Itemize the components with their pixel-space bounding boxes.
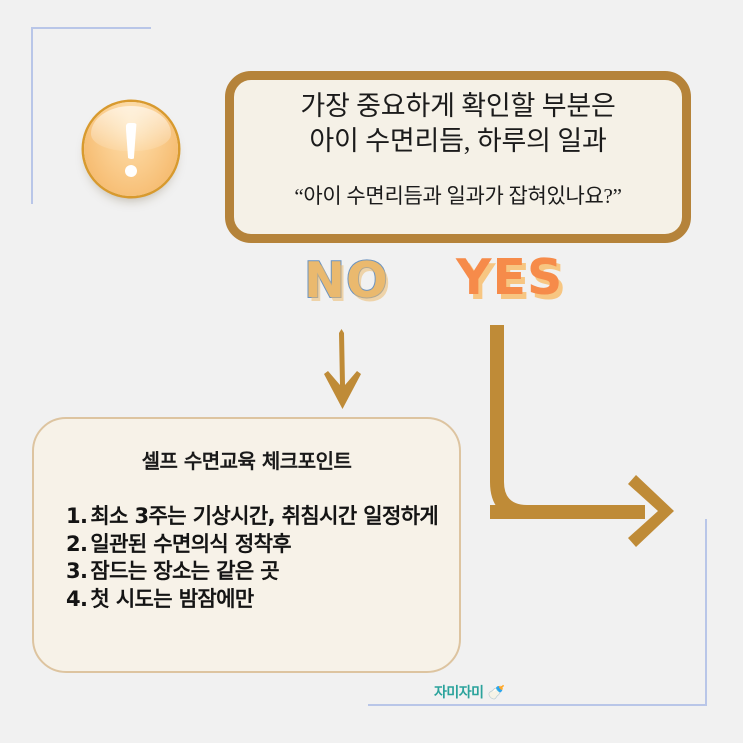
down-arrow-icon	[312, 327, 372, 419]
list-item-number: 4.	[66, 586, 87, 614]
list-item-number: 3.	[66, 558, 87, 586]
list-item: 3. 잠드는 장소는 같은 곳	[66, 558, 441, 586]
exclamation-bar	[126, 123, 137, 159]
baby-emoji-icon: 🍼	[488, 685, 505, 699]
list-item-number: 2.	[66, 531, 87, 559]
list-item: 1. 최소 3주는 기상시간, 취침시간 일정하게	[66, 503, 441, 531]
frame-line-bottom	[368, 704, 707, 706]
elbow-right-arrow-icon	[480, 322, 685, 547]
infographic-canvas: 가장 중요하게 확인할 부분은 아이 수면리듬, 하루의 일과 “아이 수면리듬…	[0, 0, 743, 743]
watermark: 자미자미 🍼	[434, 682, 505, 702]
frame-line-left	[31, 27, 33, 204]
list-item-text: 잠드는 장소는 같은 곳	[89, 558, 441, 586]
list-item-text: 일관된 수면의식 정착후	[89, 531, 441, 559]
branch-label-yes: YES	[456, 249, 563, 306]
list-item-text: 최소 3주는 기상시간, 취침시간 일정하게	[89, 503, 441, 531]
branch-label-no: NO	[304, 252, 389, 309]
checklist-items: 1. 최소 3주는 기상시간, 취침시간 일정하게 2. 일관된 수면의식 정착…	[66, 503, 441, 614]
list-item-text: 첫 시도는 밤잠에만	[89, 586, 441, 614]
list-item: 2. 일관된 수면의식 정착후	[66, 531, 441, 559]
list-item: 4. 첫 시도는 밤잠에만	[66, 586, 441, 614]
exclamation-circle-icon	[84, 102, 178, 196]
question-title: 가장 중요하게 확인할 부분은 아이 수면리듬, 하루의 일과	[300, 89, 615, 158]
question-quote: “아이 수면리듬과 일과가 잡혀있나요?”	[294, 180, 621, 210]
watermark-text: 자미자미	[434, 682, 484, 702]
frame-line-top	[31, 27, 151, 29]
checklist-box: 셀프 수면교육 체크포인트 1. 최소 3주는 기상시간, 취침시간 일정하게 …	[32, 417, 461, 673]
question-box: 가장 중요하게 확인할 부분은 아이 수면리듬, 하루의 일과 “아이 수면리듬…	[225, 71, 691, 243]
exclamation-dot	[125, 165, 137, 177]
checklist-title: 셀프 수면교육 체크포인트	[52, 445, 441, 474]
frame-line-right	[705, 519, 707, 706]
list-item-number: 1.	[66, 503, 87, 531]
